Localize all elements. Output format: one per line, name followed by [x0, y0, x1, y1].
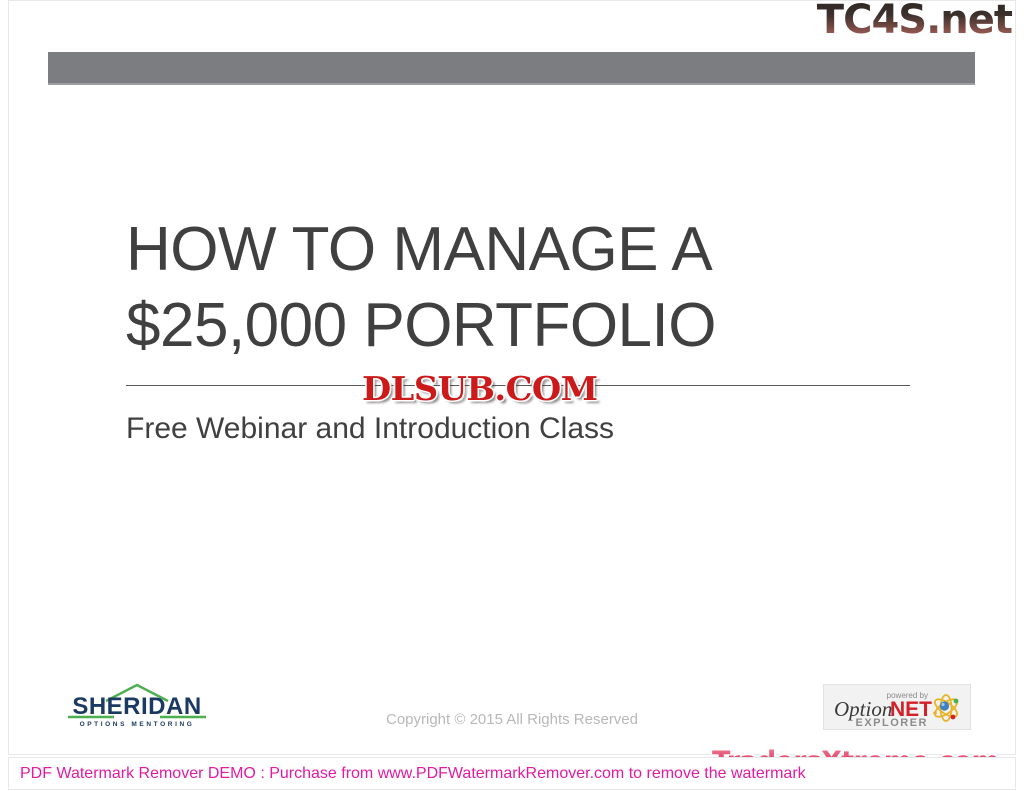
presentation-slide: TC4S.net HOW TO MANAGE A $25,000 PORTFOL… [0, 0, 1024, 791]
sheridan-wordmark: SHERIDAN [72, 693, 201, 720]
optionnet-explorer-logo: powered by Option NET EXPLORER [823, 684, 971, 730]
optionnet-word-explorer: EXPLORER [855, 717, 928, 729]
sheridan-tagline: OPTIONS MENTORING [80, 721, 195, 728]
dlsub-watermark: DLSUB.COM [362, 371, 597, 407]
title-line-1: HOW TO MANAGE A [126, 212, 916, 288]
sheridan-logo: SHERIDAN OPTIONS MENTORING [62, 683, 212, 729]
sheridan-logo-graphic: SHERIDAN OPTIONS MENTORING [62, 683, 212, 729]
optionnet-logo-graphic: powered by Option NET EXPLORER [824, 685, 970, 729]
atom-icon [932, 695, 960, 721]
page-subtitle: Free Webinar and Introduction Class [126, 410, 614, 448]
header-band [48, 52, 975, 85]
page-title: HOW TO MANAGE A $25,000 PORTFOLIO [126, 212, 916, 364]
tc4s-site-logo: TC4S.net [817, 0, 1012, 44]
title-line-2: $25,000 PORTFOLIO [126, 288, 916, 364]
pdf-watermark-banner-text: PDF Watermark Remover DEMO : Purchase fr… [20, 763, 806, 785]
